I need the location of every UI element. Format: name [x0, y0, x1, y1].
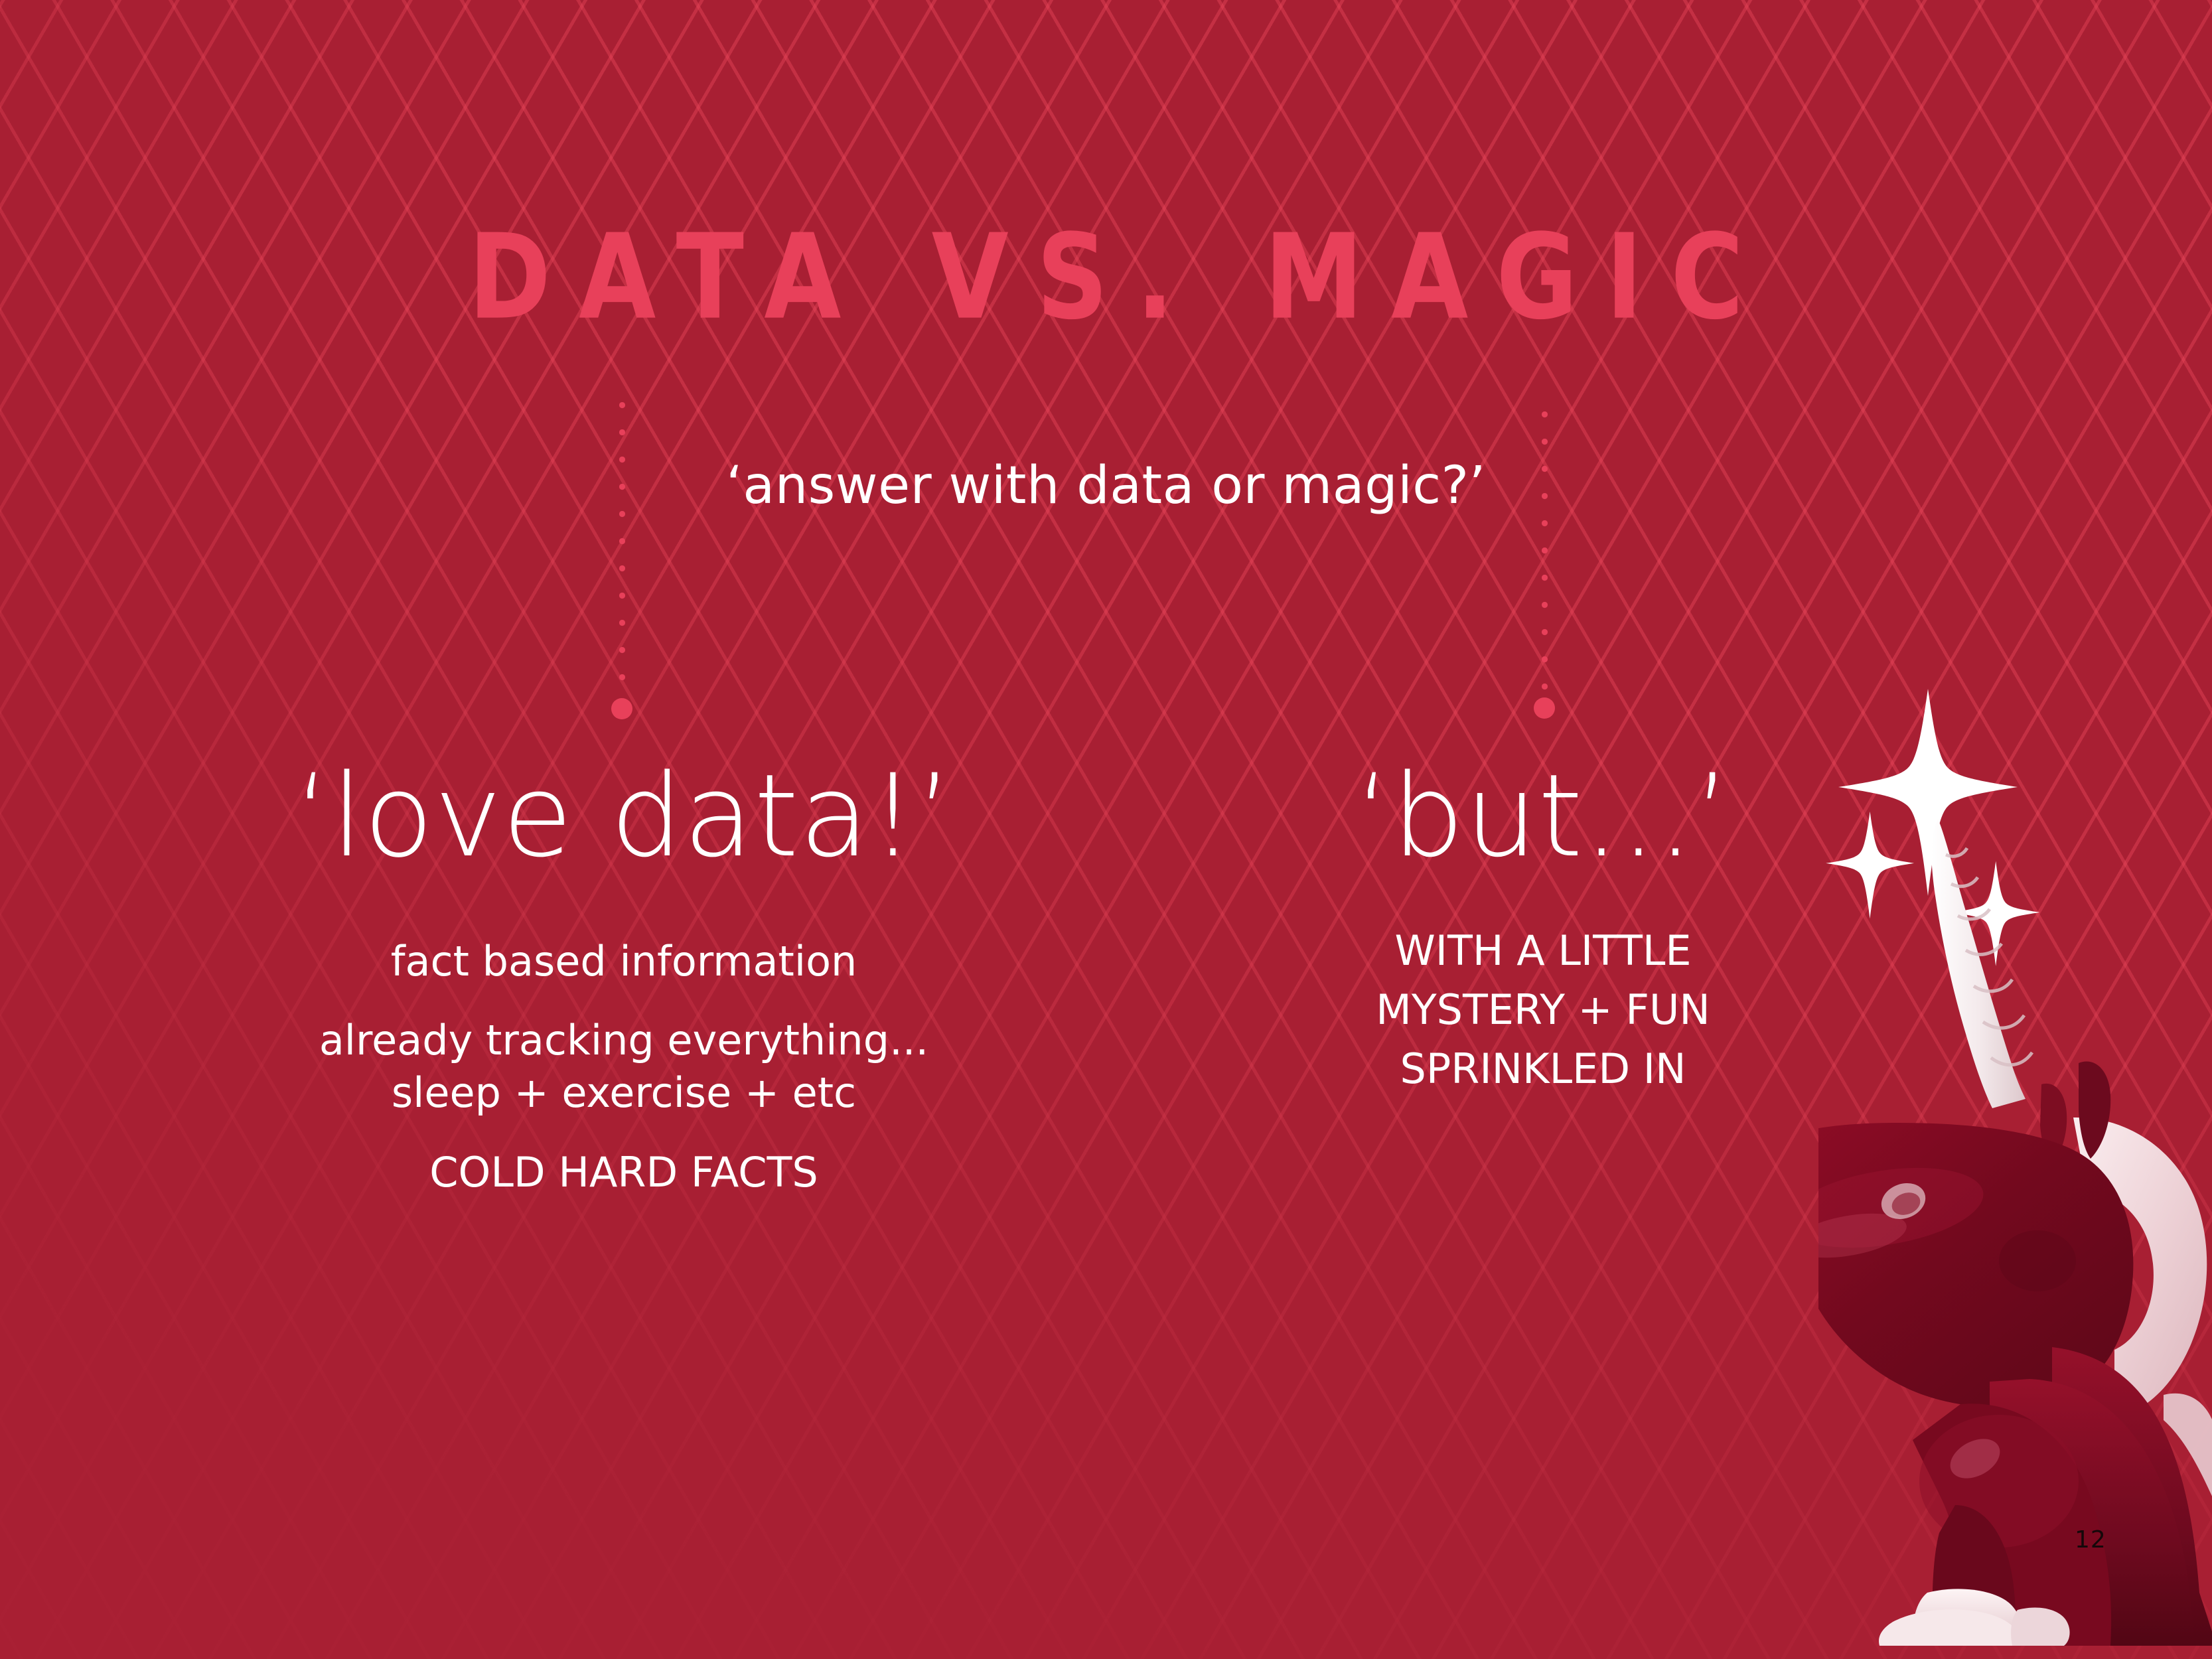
unicorn-leg: [1933, 1505, 2016, 1646]
column-right-body: WITH A LITTLE MYSTERY + FUN SPRINKLED IN: [1234, 924, 1852, 1096]
slide-title: DATA VS. MAGIC: [0, 219, 2212, 336]
sparkle-icons: [1826, 689, 2039, 966]
unicorn-horn-icon: [1931, 819, 2032, 1108]
column-love-data: ‘love data!’ fact based information alre…: [80, 757, 1168, 1198]
unicorn-head: [1818, 1123, 2133, 1407]
column-left-heading: ‘love data!’: [80, 757, 1168, 877]
unicorn-ears: [2040, 1061, 2110, 1165]
column-right-line-2: MYSTERY + FUN: [1234, 983, 1852, 1036]
column-left-body: fact based information already tracking …: [80, 935, 1168, 1198]
dotted-line-icon: [1542, 411, 1548, 713]
presentation-slide: DATA VS. MAGIC ‘answer with data or magi…: [0, 0, 2212, 1659]
column-but: ‘but...’ WITH A LITTLE MYSTERY + FUN SPR…: [1234, 757, 1852, 1102]
unicorn-mane: [2073, 1118, 2207, 1416]
column-right-line-1: WITH A LITTLE: [1234, 924, 1852, 977]
unicorn-body: [2052, 1347, 2212, 1646]
column-left-line-2: already tracking everything... sleep + e…: [80, 1014, 1168, 1119]
column-left-line-2b: sleep + exercise + etc: [80, 1066, 1168, 1119]
connector-end-dot-icon: [1534, 697, 1555, 719]
column-right-line-3: SPRINKLED IN: [1234, 1043, 1852, 1095]
column-left-line-3: COLD HARD FACTS: [80, 1146, 1168, 1198]
sparkle-small-right-icon: [1952, 861, 2039, 966]
column-left-line-1: fact based information: [80, 935, 1168, 987]
sparkle-large-icon: [1838, 689, 2018, 896]
dotted-connector-right: [1540, 411, 1549, 713]
slide-subtitle: ‘answer with data or magic?’: [0, 458, 2212, 515]
dotted-line-icon: [619, 402, 625, 714]
dotted-connector-left: [617, 402, 627, 714]
column-right-heading: ‘but...’: [1234, 757, 1852, 877]
unicorn-hoof: [1879, 1589, 2021, 1646]
unicorn-figurine: [1818, 677, 2212, 1646]
connector-end-dot-icon: [611, 698, 632, 719]
column-left-line-2a: already tracking everything...: [80, 1014, 1168, 1066]
page-number: 12: [2075, 1526, 2106, 1553]
